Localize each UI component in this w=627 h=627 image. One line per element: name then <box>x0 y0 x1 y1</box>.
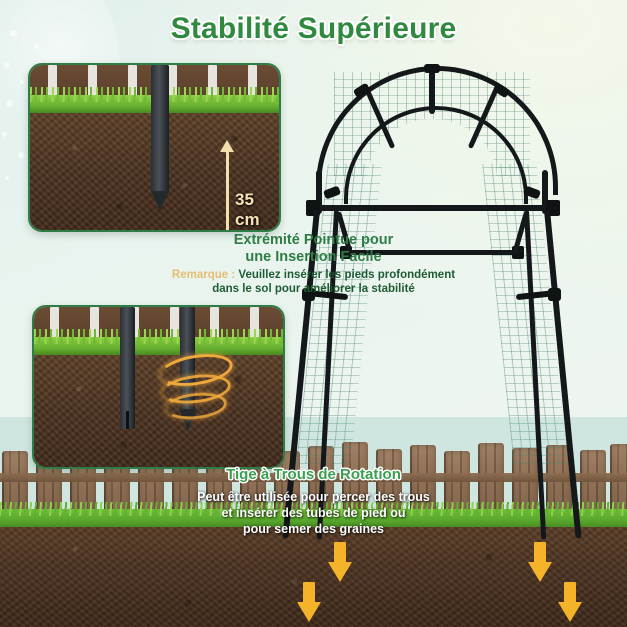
panel-two-desc-line2: et insérer des tubes de pied ou <box>0 505 627 521</box>
decorative-dot <box>20 80 24 84</box>
insertion-arrow <box>297 582 321 622</box>
decorative-dot <box>2 132 7 137</box>
panel-two-desc-line3: pour semer des graines <box>0 521 627 537</box>
rod-slot <box>126 411 129 429</box>
depth-measure-label: 35 cm <box>235 190 279 230</box>
rotation-spiral-icon <box>159 355 233 415</box>
panel-grass <box>34 337 283 357</box>
panel-two-desc-line1: Peut être utilisée pour percer des trous <box>0 489 627 505</box>
arch-connector <box>424 64 440 73</box>
pointed-tip-panel: 35 cm <box>28 63 281 232</box>
decorative-dot <box>18 152 24 158</box>
note-tag: Remarque : <box>172 269 235 281</box>
note-text-line1: Veuillez insérer les pieds profondément <box>238 269 455 281</box>
page-title: Stabilité Supérieure <box>0 12 627 46</box>
panel-two-caption: Tige à Trous de Rotation <box>0 466 627 484</box>
decorative-dot <box>6 100 13 107</box>
rotation-hole-rod-panel <box>32 305 285 469</box>
panel-one-caption-line1: Extrémité Pointue pour <box>0 232 627 249</box>
insertion-arrow <box>558 582 582 622</box>
decorative-dot <box>4 62 10 68</box>
panel-one-caption-line2: une Insertion Facile <box>0 249 627 266</box>
pointed-stake <box>151 65 169 193</box>
marketing-image: Stabilité Supérieure <box>0 0 627 627</box>
stake-pointed-tip <box>151 191 169 211</box>
panel-one-note-line2: dans le sol pour améliorer la stabilité <box>0 282 627 296</box>
decorative-dot <box>5 176 9 180</box>
panel-one-note-line1: Remarque : Veuillez insérer les pieds pr… <box>0 268 627 282</box>
arch-rib <box>429 66 435 114</box>
arch-crossbar-top <box>310 205 556 211</box>
depth-measure-arrow <box>226 151 229 232</box>
